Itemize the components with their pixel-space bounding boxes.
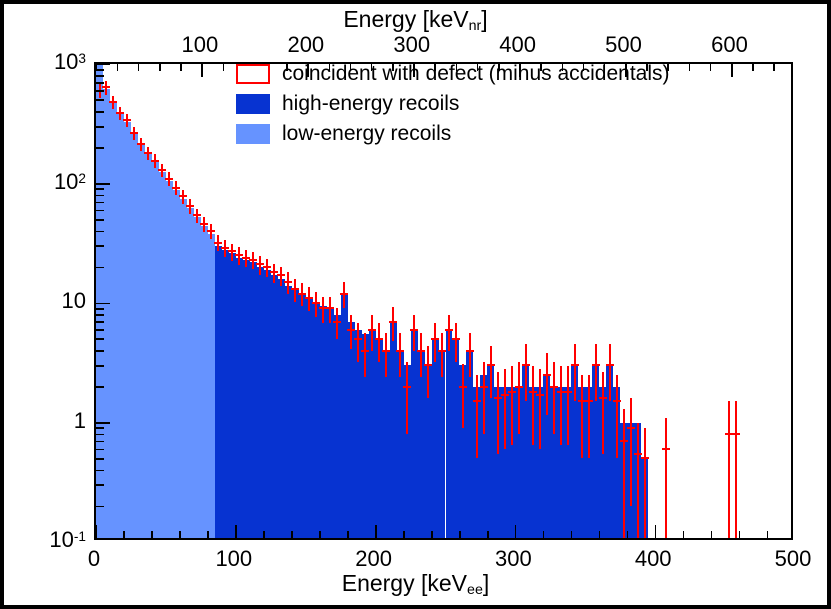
- data-point-marker: [487, 364, 495, 366]
- error-bar: [525, 344, 527, 401]
- top-tick: [223, 64, 225, 71]
- x-tick-label: 200: [355, 546, 392, 572]
- histogram-bar: [138, 145, 145, 540]
- data-point-marker: [186, 205, 194, 207]
- error-bar: [728, 401, 730, 540]
- data-point-marker: [123, 119, 131, 121]
- data-point-marker: [536, 394, 544, 396]
- data-point-marker: [305, 297, 313, 299]
- histogram-bar: [466, 351, 473, 540]
- top-tick-label: 600: [711, 32, 748, 58]
- data-point-marker: [144, 152, 152, 154]
- error-bar: [294, 279, 296, 302]
- legend-entry: low-energy recoils: [236, 120, 666, 148]
- error-bar: [413, 315, 415, 351]
- x-tick: [655, 525, 657, 538]
- data-point-marker: [207, 230, 215, 232]
- x-tick: [627, 531, 629, 538]
- histogram-bar: [159, 172, 166, 540]
- x-tick: [179, 531, 181, 538]
- histogram-bar: [194, 217, 201, 540]
- data-point-marker: [452, 338, 460, 340]
- y-tick: [96, 69, 104, 71]
- data-point-marker: [431, 338, 439, 340]
- figure-canvas: Energy [keVnr] 100200300400500600 Events…: [4, 4, 827, 605]
- y-tick-label: 1: [74, 408, 86, 434]
- top-tick: [159, 64, 161, 71]
- data-point-marker: [529, 391, 537, 393]
- histogram-bar: [439, 351, 446, 540]
- y-tick: [96, 231, 104, 233]
- y-tick: [96, 386, 104, 388]
- y-tick: [96, 219, 104, 221]
- y-tick: [96, 506, 104, 508]
- error-bar: [455, 323, 457, 362]
- y-tick: [96, 321, 104, 323]
- x-tick: [123, 531, 125, 538]
- data-point-marker: [403, 386, 411, 388]
- data-point-marker: [382, 350, 390, 352]
- error-bar: [532, 366, 534, 445]
- x-tick: [599, 531, 601, 538]
- y-tick: [96, 126, 104, 128]
- data-point-marker: [466, 350, 474, 352]
- error-bar: [322, 297, 324, 323]
- data-point-marker: [130, 132, 138, 134]
- x-tick: [319, 531, 321, 538]
- data-point-marker: [473, 400, 481, 402]
- error-bar: [385, 333, 387, 377]
- data-point-marker: [193, 214, 201, 216]
- top-axis-title: Energy [keVnr]: [343, 6, 487, 34]
- histogram-bar: [306, 298, 313, 540]
- x-tick: [571, 531, 573, 538]
- y-tick: [96, 64, 110, 66]
- data-point-marker: [109, 101, 117, 103]
- x-tick: [235, 525, 237, 538]
- error-bar: [539, 369, 541, 449]
- top-tick-label: 300: [393, 32, 430, 58]
- data-point-marker: [732, 433, 740, 435]
- error-bar: [497, 372, 499, 454]
- data-point-marker: [522, 364, 530, 366]
- y-tick: [96, 458, 104, 460]
- top-tick: [180, 64, 182, 71]
- histogram-bar: [341, 294, 348, 540]
- histogram-bar: [390, 322, 397, 541]
- error-bar: [371, 315, 373, 351]
- legend-entry: coincident with defect (minus accidental…: [236, 60, 666, 88]
- y-tick: [96, 484, 104, 486]
- data-point-marker: [641, 457, 649, 459]
- y-tick-label: 103: [54, 49, 86, 75]
- y-tick: [96, 350, 104, 352]
- x-tick: [96, 525, 98, 538]
- error-bar: [609, 344, 611, 401]
- histogram-bar: [369, 330, 376, 541]
- error-bar: [343, 282, 345, 309]
- y-tick: [96, 82, 104, 84]
- x-tick: [263, 531, 265, 538]
- legend-entry: high-energy recoils: [236, 90, 666, 118]
- y-tick: [96, 470, 104, 472]
- histogram-bar: [257, 267, 264, 540]
- legend-label: low-energy recoils: [282, 122, 451, 146]
- histogram-bar: [271, 275, 278, 540]
- error-bar: [602, 372, 604, 454]
- y-tick: [96, 111, 104, 113]
- error-bar: [637, 423, 639, 541]
- error-bar: [518, 362, 520, 434]
- data-point-marker: [620, 440, 628, 442]
- data-point-marker: [606, 364, 614, 366]
- histogram-bar: [243, 260, 250, 540]
- error-bar: [350, 315, 352, 349]
- data-point-marker: [417, 350, 425, 352]
- error-bar: [735, 401, 737, 540]
- data-point-marker: [368, 329, 376, 331]
- data-point-marker: [172, 187, 180, 189]
- error-bar: [441, 333, 443, 377]
- histogram-bar: [376, 339, 383, 540]
- error-bar: [287, 272, 289, 293]
- data-point-marker: [410, 329, 418, 331]
- histogram-bar: [278, 279, 285, 540]
- histogram-bar: [201, 226, 208, 540]
- error-bar: [574, 344, 576, 401]
- x-tick: [431, 531, 433, 538]
- histogram-bar: [229, 253, 236, 540]
- data-point-marker: [333, 321, 341, 323]
- histogram-bar: [452, 339, 459, 540]
- error-bar: [329, 297, 331, 323]
- top-tick-label: 200: [287, 32, 324, 58]
- data-point-marker: [354, 338, 362, 340]
- histogram-bar: [152, 162, 159, 540]
- histogram-bar: [215, 246, 222, 540]
- histogram-bar: [285, 286, 292, 540]
- histogram-bar: [348, 322, 355, 541]
- error-bar: [553, 362, 555, 434]
- error-bar: [581, 375, 583, 459]
- data-point-marker: [151, 160, 159, 162]
- y-tick: [96, 434, 104, 436]
- top-tick: [773, 64, 775, 71]
- x-tick: [375, 525, 377, 538]
- y-tick: [96, 75, 104, 77]
- legend: coincident with defect (minus accidental…: [236, 60, 666, 150]
- histogram-bar: [187, 208, 194, 540]
- y-tick: [96, 188, 104, 190]
- data-point-marker: [424, 364, 432, 366]
- data-point-marker: [445, 329, 453, 331]
- error-bar: [665, 418, 667, 540]
- y-tick: [96, 449, 104, 451]
- y-tick: [96, 365, 104, 367]
- histogram-bar: [320, 306, 327, 540]
- error-bar: [630, 398, 632, 506]
- error-bar: [406, 362, 408, 434]
- x-tick: [291, 531, 293, 538]
- data-point-marker: [480, 386, 488, 388]
- data-point-marker: [270, 271, 278, 273]
- error-bar: [378, 323, 380, 362]
- error-bar: [392, 307, 394, 341]
- x-tick: [459, 531, 461, 538]
- x-tick: [711, 531, 713, 538]
- data-point-marker: [284, 281, 292, 283]
- top-tick: [752, 64, 754, 71]
- data-point-marker: [613, 400, 621, 402]
- y-tick: [96, 183, 110, 185]
- x-axis-title: Energy [keVee]: [342, 570, 490, 598]
- data-point-marker: [102, 86, 110, 88]
- y-tick: [96, 147, 104, 149]
- legend-swatch: [236, 124, 270, 144]
- data-point-marker: [291, 288, 299, 290]
- x-tick: [767, 531, 769, 538]
- top-tick: [731, 64, 733, 77]
- top-tick-label: 100: [182, 32, 219, 58]
- histogram-bar: [180, 199, 187, 540]
- histogram-bar: [124, 122, 131, 540]
- x-tick: [151, 531, 153, 538]
- data-point-marker: [459, 386, 467, 388]
- histogram-bar: [418, 351, 425, 540]
- error-bar: [315, 292, 317, 317]
- error-bar: [560, 366, 562, 445]
- legend-label: coincident with defect (minus accidental…: [282, 62, 670, 86]
- data-point-marker: [585, 400, 593, 402]
- y-tick: [96, 308, 104, 310]
- top-tick-label: 500: [605, 32, 642, 58]
- data-point-marker: [277, 274, 285, 276]
- x-tick-label: 100: [215, 546, 252, 572]
- histogram-bar: [250, 262, 257, 540]
- error-bar: [364, 333, 366, 377]
- error-bar: [483, 362, 485, 434]
- data-point-marker: [634, 453, 642, 455]
- y-tick-label: 102: [54, 169, 86, 195]
- data-point-marker: [662, 448, 670, 450]
- error-bar: [567, 366, 569, 445]
- data-point-marker: [326, 307, 334, 309]
- histogram-bar: [103, 89, 110, 540]
- y-tick: [96, 245, 104, 247]
- legend-label: high-energy recoils: [282, 92, 459, 116]
- data-point-marker: [592, 364, 600, 366]
- histogram-bar: [110, 102, 117, 540]
- error-bar: [399, 333, 401, 377]
- error-bar: [462, 364, 464, 428]
- error-bar: [357, 323, 359, 362]
- y-tick-label: 10: [62, 288, 86, 314]
- data-point-marker: [116, 112, 124, 114]
- y-tick-label: 10-1: [49, 527, 86, 553]
- data-point-marker: [564, 391, 572, 393]
- error-bar: [616, 375, 618, 459]
- y-tick: [96, 99, 104, 101]
- y-tick: [96, 195, 104, 197]
- error-bar: [301, 283, 303, 306]
- error-bar: [546, 353, 548, 416]
- x-tick-label: 400: [635, 546, 672, 572]
- data-point-marker: [361, 350, 369, 352]
- y-tick: [96, 441, 104, 443]
- histogram-bar: [236, 258, 243, 540]
- data-point-marker: [508, 391, 516, 393]
- data-point-marker: [599, 397, 607, 399]
- histogram-bar: [292, 289, 299, 540]
- error-bar: [476, 375, 478, 459]
- y-tick: [96, 427, 104, 429]
- data-point-marker: [543, 374, 551, 376]
- histogram-bar: [446, 330, 453, 541]
- error-bar: [427, 346, 429, 399]
- error-bar: [504, 369, 506, 449]
- data-point-marker: [263, 266, 271, 268]
- error-bar: [469, 333, 471, 377]
- histogram-bar: [383, 351, 390, 540]
- top-tick: [201, 64, 203, 77]
- histogram-bar: [131, 134, 138, 540]
- y-tick: [96, 202, 104, 204]
- data-point-marker: [179, 195, 187, 197]
- x-tick-label: 0: [88, 546, 100, 572]
- error-bar: [595, 344, 597, 401]
- top-tick: [710, 64, 712, 71]
- data-point-marker: [158, 169, 166, 171]
- x-tick: [347, 531, 349, 538]
- data-point-marker: [347, 329, 355, 331]
- data-point-marker: [501, 394, 509, 396]
- histogram-bar: [432, 339, 439, 540]
- y-tick: [96, 210, 104, 212]
- x-tick: [739, 531, 741, 538]
- data-point-marker: [200, 223, 208, 225]
- histogram-bar: [145, 154, 152, 540]
- x-tick: [683, 531, 685, 538]
- x-tick: [543, 531, 545, 538]
- histogram-bar: [299, 294, 306, 540]
- y-tick: [96, 303, 110, 305]
- histogram-bar: [327, 308, 334, 540]
- histogram-bar: [208, 234, 215, 540]
- error-bar: [308, 287, 310, 311]
- histogram-bar: [313, 303, 320, 540]
- histogram-bar: [173, 190, 180, 540]
- y-tick: [96, 329, 104, 331]
- data-point-marker: [298, 293, 306, 295]
- data-point-marker: [137, 143, 145, 145]
- x-tick-label: 500: [775, 546, 812, 572]
- legend-swatch: [236, 64, 270, 84]
- data-point-marker: [494, 397, 502, 399]
- error-bar: [490, 346, 492, 399]
- error-bar: [336, 308, 338, 339]
- data-point-marker: [214, 242, 222, 244]
- histogram-bar: [334, 315, 341, 540]
- top-tick-label: 400: [499, 32, 536, 58]
- x-tick-label: 300: [495, 546, 532, 572]
- top-tick: [138, 64, 140, 71]
- histogram-bar: [264, 270, 271, 540]
- histogram-bar: [166, 181, 173, 540]
- data-point-marker: [375, 338, 383, 340]
- data-point-marker: [396, 350, 404, 352]
- histogram-bar: [117, 112, 124, 540]
- error-bar: [434, 323, 436, 362]
- error-bar: [623, 409, 625, 540]
- data-point-marker: [389, 321, 397, 323]
- data-point-marker: [228, 250, 236, 252]
- y-tick: [96, 338, 104, 340]
- y-tick: [96, 267, 104, 269]
- x-tick: [487, 531, 489, 538]
- error-bar: [448, 315, 450, 351]
- y-tick: [96, 314, 104, 316]
- error-bar: [644, 428, 646, 540]
- error-bar: [588, 375, 590, 459]
- data-point-marker: [340, 293, 348, 295]
- histogram-bar: [411, 330, 418, 541]
- data-point-marker: [249, 259, 257, 261]
- data-point-marker: [312, 302, 320, 304]
- y-tick: [96, 90, 104, 92]
- data-point-marker: [515, 386, 523, 388]
- data-point-marker: [550, 386, 558, 388]
- top-tick: [117, 64, 119, 71]
- error-bar: [420, 333, 422, 377]
- x-tick: [207, 531, 209, 538]
- y-tick: [96, 422, 110, 424]
- data-point-marker: [438, 350, 446, 352]
- data-point-marker: [571, 364, 579, 366]
- data-point-marker: [627, 427, 635, 429]
- data-point-marker: [221, 247, 229, 249]
- data-point-marker: [165, 178, 173, 180]
- histogram-bar: [222, 250, 229, 540]
- legend-swatch: [236, 94, 270, 114]
- x-tick: [515, 525, 517, 538]
- x-tick: [403, 531, 405, 538]
- top-tick: [689, 64, 691, 71]
- error-bar: [511, 366, 513, 445]
- histogram-bar: [397, 351, 404, 540]
